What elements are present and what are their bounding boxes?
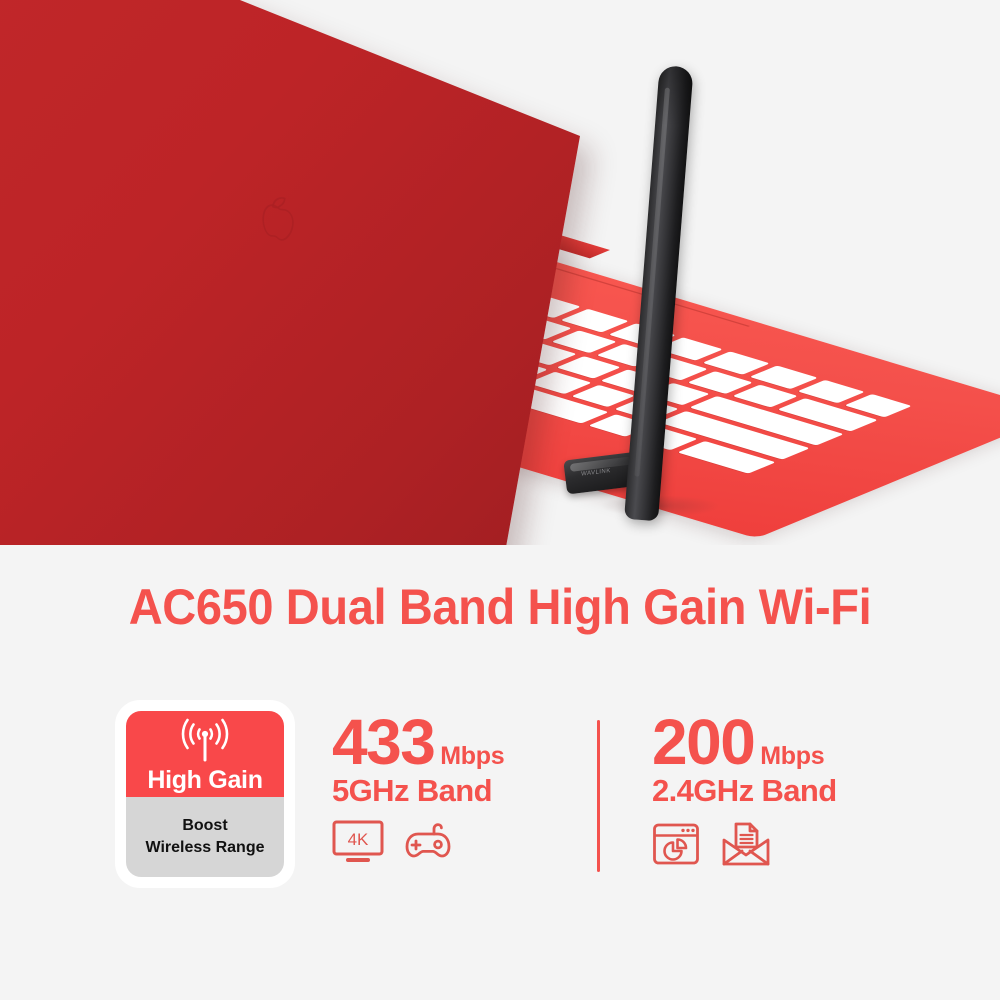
game-controller-icon: [404, 820, 454, 864]
badge-subtitle-line1: Boost: [182, 817, 227, 835]
stat-divider: [597, 720, 600, 872]
stat-speed-row: 200 Mbps: [652, 712, 837, 772]
feature-strip: High Gain Boost Wireless Range 433 Mbps …: [0, 700, 1000, 900]
email-envelope-icon: [720, 820, 772, 868]
antenna-tip: [655, 65, 694, 127]
stat-icon-row: 4K: [332, 820, 504, 864]
high-gain-badge: High Gain Boost Wireless Range: [120, 705, 290, 883]
stat-number: 433: [332, 712, 434, 772]
badge-bottom-section: Boost Wireless Range: [126, 797, 284, 877]
antenna-shadow: [600, 495, 720, 517]
product-hero-image: WAVLINK: [0, 0, 1000, 545]
antenna-signal-icon: [174, 718, 236, 767]
laptop-lid: [0, 0, 580, 545]
monitor-4k-icon: 4K: [332, 820, 384, 864]
stat-number: 200: [652, 712, 754, 772]
stat-unit: Mbps: [760, 742, 824, 771]
page-title: AC650 Dual Band High Gain Wi-Fi: [30, 578, 970, 636]
badge-title: High Gain: [147, 768, 262, 793]
stat-block-5ghz: 433 Mbps 5GHz Band 4K: [332, 712, 504, 864]
stat-band-label: 2.4GHz Band: [652, 775, 837, 806]
stat-speed-row: 433 Mbps: [332, 712, 504, 772]
stat-band-label: 5GHz Band: [332, 775, 504, 806]
badge-inner: High Gain Boost Wireless Range: [126, 711, 284, 877]
svg-text:4K: 4K: [348, 830, 369, 849]
badge-subtitle-line2: Wireless Range: [145, 839, 264, 857]
browser-chart-icon: [652, 822, 700, 866]
product-feature-page: WAVLINK AC650 Dual Band High Gain Wi-Fi: [0, 0, 1000, 1000]
stat-block-24ghz: 200 Mbps 2.4GHz Band: [652, 712, 837, 868]
stat-unit: Mbps: [440, 742, 504, 771]
badge-top-section: High Gain: [126, 711, 284, 797]
stat-icon-row: [652, 820, 837, 868]
